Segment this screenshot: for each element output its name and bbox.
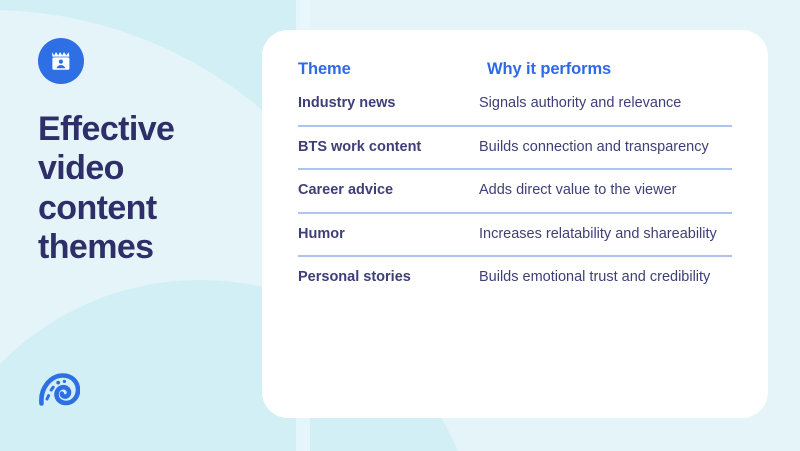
table-row: Humor Increases relatability and shareab…	[298, 213, 732, 257]
table-row: BTS work content Builds connection and t…	[298, 126, 732, 170]
table-header-row: Theme Why it performs	[298, 60, 732, 93]
column-header-theme: Theme	[298, 60, 479, 93]
themes-table: Theme Why it performs Industry news Sign…	[298, 60, 732, 299]
left-panel: Effective video content themes	[0, 0, 262, 451]
table-row: Personal stories Builds emotional trust …	[298, 256, 732, 299]
theme-reason: Builds connection and transparency	[479, 126, 732, 170]
themes-table-body: Industry news Signals authority and rele…	[298, 93, 732, 299]
theme-name: BTS work content	[298, 126, 479, 170]
theme-reason: Increases relatability and shareability	[479, 213, 732, 257]
themes-card: Theme Why it performs Industry news Sign…	[262, 30, 768, 418]
spiral-wave-logo-icon	[38, 370, 80, 408]
theme-name: Humor	[298, 213, 479, 257]
video-slate-person-icon	[38, 38, 84, 84]
theme-reason: Signals authority and relevance	[479, 93, 732, 126]
table-row: Industry news Signals authority and rele…	[298, 93, 732, 126]
page-title: Effective video content themes	[38, 110, 228, 268]
theme-reason: Builds emotional trust and credibility	[479, 256, 732, 299]
theme-name: Career advice	[298, 169, 479, 213]
theme-name: Personal stories	[298, 256, 479, 299]
column-header-why: Why it performs	[479, 60, 732, 93]
theme-name: Industry news	[298, 93, 479, 126]
table-row: Career advice Adds direct value to the v…	[298, 169, 732, 213]
theme-reason: Adds direct value to the viewer	[479, 169, 732, 213]
